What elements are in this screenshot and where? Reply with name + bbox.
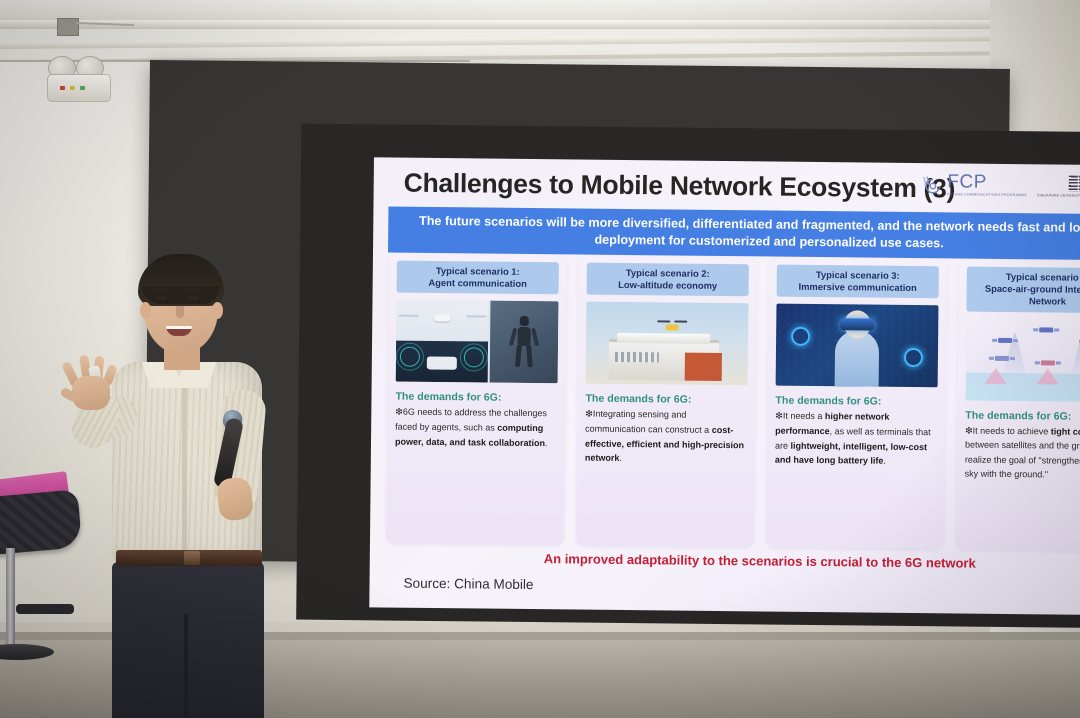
bullet-marker-icon: ❇ [585,409,593,419]
card4-text-a: It needs to achieve [973,425,1051,436]
presenter-eye-right [188,296,199,300]
projection-screen-inner: Challenges to Mobile Network Ecosystem (… [296,124,1080,629]
satellite-top [1039,327,1053,332]
presenter-eyebrow-left [154,288,168,291]
closing-statement: An improved adaptability to the scenario… [370,549,1080,572]
building-structure [608,339,719,381]
presenter-hair [138,254,224,306]
bullet-marker-icon: ❇ [395,407,403,417]
scenario-card-2-body: ❇Integrating sensing and communication c… [585,407,748,467]
scenario-card-4-body: ❇It needs to achieve tight coupling betw… [965,423,1080,483]
humanoid-robot-photo [490,301,559,384]
robot-torso [517,327,530,346]
presenter-trousers [112,562,264,718]
scenario-card-4-header-line1: Typical scenario 4: [1006,271,1080,283]
scenario-card-1-header-line2: Agent communication [428,277,527,289]
sensing-ring-4 [460,344,488,372]
source-label: Source: China Mobile [403,576,533,592]
ceiling-sensor [57,18,79,36]
emergency-light-led-amber [70,86,75,90]
drone-photo [396,300,488,342]
presenter-hand-right [216,476,254,521]
scenario-card-1: Typical scenario 1: Agent communication [386,254,567,546]
bullet-marker-icon: ❇ [965,425,973,435]
ceiling-strip [0,0,1080,20]
drone-vehicle-stack [396,300,489,383]
card2-text-b: . [619,453,622,463]
bullet-marker-icon: ❇ [775,411,783,421]
presenter-hand-left [66,358,114,410]
stool-pole [6,548,15,648]
shirt-placket [182,376,187,556]
scenario-card-3-demands-label: The demands for 6G: [775,395,937,409]
page-title: Challenges to Mobile Network Ecosystem (… [404,168,1004,205]
space-air-ground-network-diagram [965,318,1080,402]
scenario-card-1-header: Typical scenario 1: Agent communication [397,261,559,295]
scenario-card-1-body: ❇6G needs to address the challenges face… [395,405,557,450]
fcp-logo-text: FCP FUTURE COMMUNICATIONS PROGRAMME [947,173,1027,198]
robot-arm-right [531,328,539,346]
robot-leg-left [515,345,522,367]
scenario-card-2-header-line2: Low-altitude economy [618,279,717,291]
card3-text-c: . [883,456,886,466]
presenter-ear-right [212,302,223,319]
logo-group: FCP FUTURE COMMUNICATIONS PROGRAMME SING… [918,171,1080,200]
robot-head [520,316,529,326]
drone-vehicle-robot-image [396,300,559,384]
scenario-card-2-demands-label: The demands for 6G: [585,393,747,407]
drone-arm-right [466,317,483,324]
building-windows [615,352,659,362]
scenario-card-2-header-line1: Typical scenario 2: [626,267,710,279]
fcp-spiral-icon [918,171,945,198]
slide-banner: The future scenarios will be more divers… [389,208,1080,260]
vr-headset-icon [840,319,874,331]
presentation-slide: Challenges to Mobile Network Ecosystem (… [369,157,1080,615]
aerial-platform [1040,360,1054,365]
lecture-room-photo: Challenges to Mobile Network Ecosystem (… [0,0,1080,718]
card4-text-bold: tight coupling [1051,426,1080,437]
emergency-light [48,56,106,94]
card3-text-bold2: lightweight, intelligent, low-cost and h… [775,440,927,466]
scenario-card-3-header-line1: Typical scenario 3: [816,269,900,281]
delivery-drone-body [666,325,679,331]
scenario-card-1-header-line1: Typical scenario 1: [436,265,520,277]
humanoid-robot-figure [514,316,535,368]
card2-text-a: Integrating sensing and communication ca… [585,409,712,435]
autonomous-vehicle-sensing-photo [396,341,488,383]
presenter [60,250,300,718]
presenter-eyebrow-right [186,288,200,291]
scenario-card-2-header: Typical scenario 2: Low-altitude economy [587,263,749,297]
palm [72,376,110,410]
emergency-light-led-green [80,86,85,90]
robot-leg-right [526,345,533,367]
delivery-drone-propeller-right [675,321,688,323]
scenario-card-group: Typical scenario 1: Agent communication [386,254,1080,552]
fcp-logo-wordmark: FCP [947,173,1027,193]
stool-base [0,644,54,660]
card3-text-a: It needs a [783,411,825,421]
presenter-ear-left [140,302,151,319]
fcp-logo: FCP FUTURE COMMUNICATIONS PROGRAMME [918,171,1027,199]
building-canopy [618,333,711,344]
coverage-cone-2 [1037,369,1059,385]
drone-over-building-image [586,302,749,386]
scenario-card-1-demands-label: The demands for 6G: [395,391,557,405]
vehicle-body [427,356,457,369]
emergency-light-led-red [60,86,65,90]
belt-buckle [184,551,200,565]
drone-body [434,315,450,322]
sutd-logo-wordmark [1068,175,1080,191]
sutd-logo-subtitle: SINGAPORE UNIVERSITY OF TECHNOLOGY AND D… [1037,193,1080,198]
scenario-card-3-body: ❇It needs a higher network performance, … [775,409,938,469]
satellite-left [998,338,1012,343]
scenario-card-3-header: Typical scenario 3: Immersive communicat… [777,265,939,299]
building-red-wall [684,353,722,381]
vr-hand-glow-left [791,327,810,346]
scenario-card-3-header-line2: Immersive communication [798,281,916,293]
sutd-logo: SINGAPORE UNIVERSITY OF TECHNOLOGY AND D… [1037,175,1080,198]
scenario-card-3: Typical scenario 3: Immersive communicat… [766,257,947,549]
vr-headset-user-image [776,304,939,388]
presenter-eye-left [156,296,167,300]
fcp-logo-subtitle: FUTURE COMMUNICATIONS PROGRAMME [947,194,1027,198]
scenario-card-4: Typical scenario 4: Space-air-ground Int… [956,259,1080,551]
scenario-card-4-header-line2: Space-air-ground Integrated Network [985,283,1080,307]
delivery-drone-propeller-left [658,321,671,323]
vr-user-body [835,331,880,387]
drone-arm-left [402,317,419,323]
emergency-light-body [47,74,111,102]
presenter-nose [176,306,184,318]
sensing-ring-2 [396,343,424,371]
delivery-drone [657,321,687,333]
scenario-card-4-demands-label: The demands for 6G: [965,409,1080,423]
robot-arm-left [509,328,517,346]
card4-text-b: between satellites and the ground to rea… [965,440,1080,480]
card1-text-b: . [545,438,548,448]
ceiling-rail-upper [0,20,1080,29]
aircraft-left [995,356,1009,361]
scenario-card-4-header: Typical scenario 4: Space-air-ground Int… [966,267,1080,313]
scenario-card-2: Typical scenario 2: Low-altitude economy [576,256,757,548]
